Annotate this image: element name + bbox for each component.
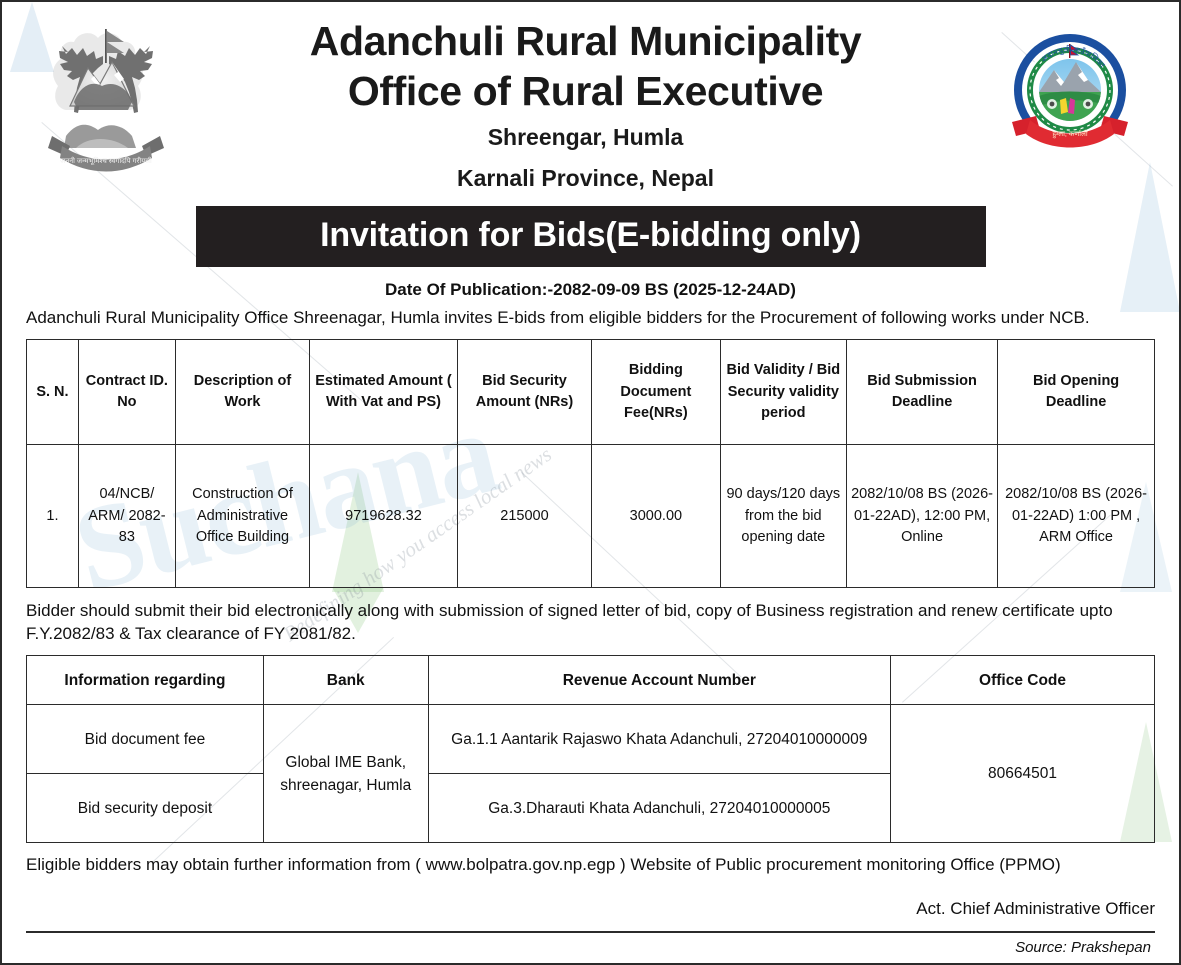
signature-line: Act. Chief Administrative Officer: [26, 899, 1155, 919]
org-address-line2: Karnali Province, Nepal: [186, 165, 985, 192]
table-header-row: Information regarding Bank Revenue Accou…: [27, 656, 1155, 705]
banner-container: Invitation for Bids(E-bidding only): [26, 206, 1155, 267]
col-bid-security-amount: Bid Security Amount (NRs): [457, 340, 591, 445]
col-bid-submission-deadline: Bid Submission Deadline: [846, 340, 997, 445]
nepal-government-emblem-icon: जननी जन्मभूमिश्च स्वर्गादपि गरीयसी: [36, 24, 176, 174]
cell-office-code: 80664501: [891, 705, 1155, 843]
right-logo-container: अदानचुली गाउँपालिका हुम्ला, कर्णाली: [985, 16, 1155, 158]
bid-details-table: S. N. Contract ID. No Description of Wor…: [26, 339, 1155, 588]
col-sn: S. N.: [27, 340, 79, 445]
intro-paragraph: Adanchuli Rural Municipality Office Shre…: [26, 307, 1155, 329]
cell-estimated-amount: 9719628.32: [310, 445, 458, 588]
header-text-block: Adanchuli Rural Municipality Office of R…: [186, 16, 985, 192]
left-logo-container: जननी जन्मभूमिश्च स्वर्गादपि गरीयसी: [26, 16, 186, 174]
notice-page: Suchana Redefining how you access local …: [0, 0, 1181, 965]
cell-bid-security-amount: 215000: [457, 445, 591, 588]
cell-account-bid-document-fee: Ga.1.1 Aantarik Rajaswo Khata Adanchuli,…: [428, 705, 890, 774]
cell-bank-name: Global IME Bank, shreenagar, Humla: [263, 705, 428, 843]
cell-bid-validity: 90 days/120 days from the bid opening da…: [720, 445, 846, 588]
submission-note-paragraph: Bidder should submit their bid electroni…: [26, 600, 1155, 645]
cell-description: Construction Of Administrative Office Bu…: [175, 445, 309, 588]
cell-info-bid-document-fee: Bid document fee: [27, 705, 264, 774]
cell-sn: 1.: [27, 445, 79, 588]
cell-contract-id: 04/NCB/ ARM/ 2082-83: [78, 445, 175, 588]
col-revenue-account-number: Revenue Account Number: [428, 656, 890, 705]
adanchuli-municipality-logo-icon: अदानचुली गाउँपालिका हुम्ला, कर्णाली: [1006, 30, 1134, 158]
bottom-divider: [26, 931, 1155, 933]
col-information-regarding: Information regarding: [27, 656, 264, 705]
org-address-line1: Shreengar, Humla: [186, 124, 985, 151]
table-header-row: S. N. Contract ID. No Description of Wor…: [27, 340, 1155, 445]
cell-info-bid-security-deposit: Bid security deposit: [27, 774, 264, 843]
org-title-line2: Office of Rural Executive: [186, 66, 985, 116]
cell-account-bid-security-deposit: Ga.3.Dharauti Khata Adanchuli, 272040100…: [428, 774, 890, 843]
document-header: जननी जन्मभूमिश्च स्वर्गादपि गरीयसी Adanc…: [26, 2, 1155, 192]
further-information-paragraph: Eligible bidders may obtain further info…: [26, 854, 1155, 876]
bank-details-table: Information regarding Bank Revenue Accou…: [26, 655, 1155, 843]
publication-date: Date Of Publication:-2082-09-09 BS (2025…: [26, 280, 1155, 300]
cell-bid-opening-deadline: 2082/10/08 BS (2026-01-22AD) 1:00 PM , A…: [998, 445, 1155, 588]
col-contract-id: Contract ID. No: [78, 340, 175, 445]
svg-text:हुम्ला, कर्णाली: हुम्ला, कर्णाली: [1052, 129, 1087, 139]
col-description: Description of Work: [175, 340, 309, 445]
source-attribution: Source: Prakshepan: [26, 939, 1155, 956]
col-bid-validity: Bid Validity / Bid Security validity per…: [720, 340, 846, 445]
col-office-code: Office Code: [891, 656, 1155, 705]
invitation-banner-title: Invitation for Bids(E-bidding only): [196, 206, 986, 267]
col-estimated-amount: Estimated Amount ( With Vat and PS): [310, 340, 458, 445]
col-bank: Bank: [263, 656, 428, 705]
table-row: 1. 04/NCB/ ARM/ 2082-83 Construction Of …: [27, 445, 1155, 588]
table-row: Bid document fee Global IME Bank, shreen…: [27, 705, 1155, 774]
col-bidding-document-fee: Bidding Document Fee(NRs): [592, 340, 721, 445]
col-bid-opening-deadline: Bid Opening Deadline: [998, 340, 1155, 445]
cell-bid-submission-deadline: 2082/10/08 BS (2026-01-22AD), 12:00 PM, …: [846, 445, 997, 588]
org-title-line1: Adanchuli Rural Municipality: [186, 16, 985, 66]
cell-bidding-document-fee: 3000.00: [592, 445, 721, 588]
svg-text:जननी जन्मभूमिश्च स्वर्गादपि गर: जननी जन्मभूमिश्च स्वर्गादपि गरीयसी: [60, 156, 152, 165]
